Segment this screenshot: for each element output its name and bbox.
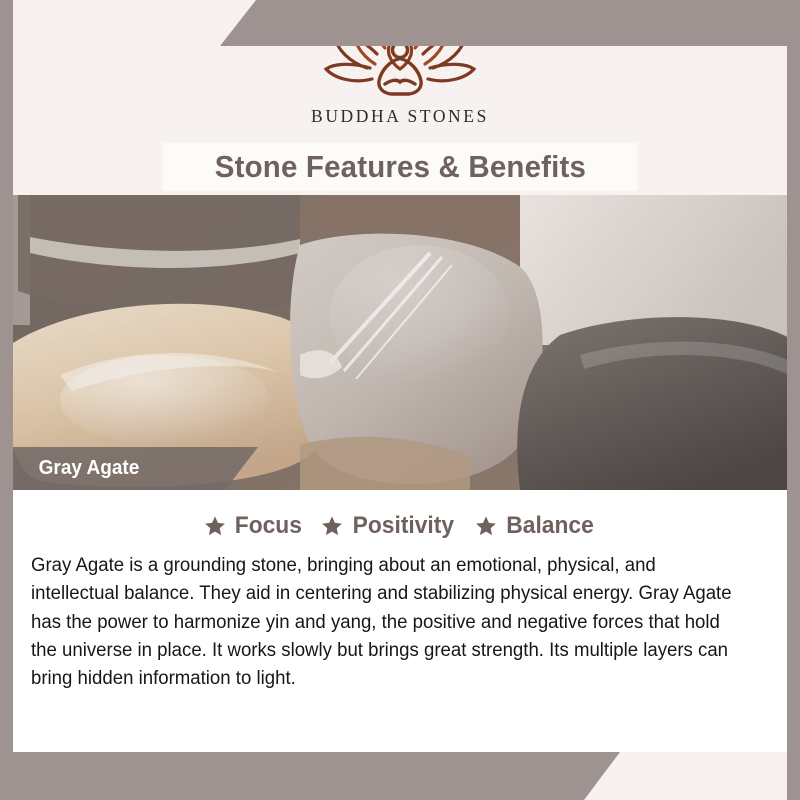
feature-item-focus: Focus [204,512,304,540]
stone-name-badge: Gray Agate [0,447,258,490]
feature-label: Focus [235,512,302,540]
star-icon [475,515,497,537]
stone-photo-image [0,195,800,490]
stone-description: Gray Agate is a grounding stone, bringin… [31,552,743,694]
feature-list: Focus Positivity Balance [13,490,787,540]
feature-item-balance: Balance [475,512,596,540]
title-banner: Stone Features & Benefits [163,143,637,191]
frame-top-accent [220,0,800,46]
brand-name: BUDDHA STONES [311,106,489,127]
stone-name-label: Gray Agate [39,457,140,480]
frame-bottom-accent [0,752,620,800]
feature-label: Balance [506,512,593,540]
star-icon [321,515,343,537]
feature-item-positivity: Positivity [321,512,457,540]
star-icon [204,515,226,537]
infographic-card: BUDDHA STONES Stone Features & Benefits [0,0,800,800]
stone-photo [0,195,800,490]
frame-right-accent [787,0,800,800]
feature-label: Positivity [353,512,454,540]
frame-left-accent [0,0,13,800]
content-panel: Focus Positivity Balance Gray Agate is a… [13,490,787,752]
page-title: Stone Features & Benefits [214,149,585,185]
